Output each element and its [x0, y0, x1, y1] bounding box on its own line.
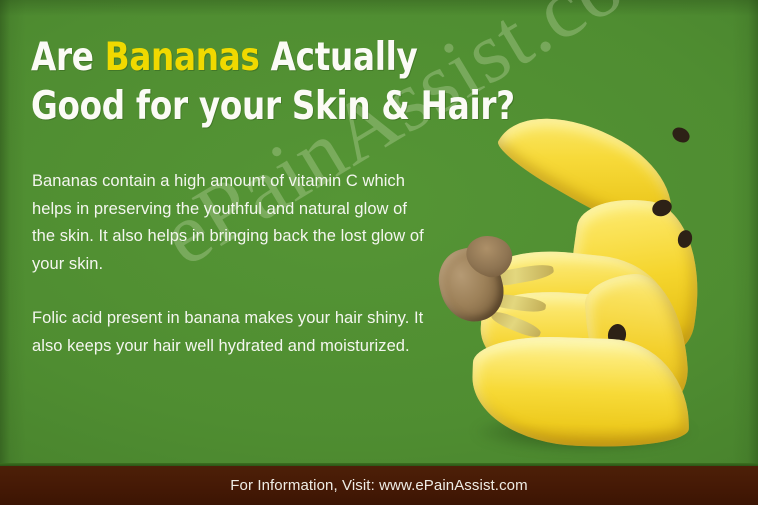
body-paragraph-1: Bananas contain a high amount of vitamin… [32, 168, 432, 278]
body-paragraph-2: Folic acid present in banana makes your … [32, 305, 432, 360]
page-title-accent: Bananas [105, 35, 260, 80]
body-copy: Bananas contain a high amount of vitamin… [32, 168, 432, 360]
page-title-line-1-before: Are [31, 35, 105, 80]
footer-text: For Information, Visit: www.ePainAssist.… [0, 477, 758, 494]
page-title-line-1: Are Bananas Actually [31, 33, 515, 82]
page-title-line-1-after: Actually [260, 35, 418, 80]
page-title-line-2: Good for your Skin & Hair? [31, 82, 515, 131]
page-title: Are Bananas Actually Good for your Skin … [31, 33, 515, 131]
infographic-canvas: ePainAssist.com Are Bananas Actually Goo… [0, 0, 758, 505]
banana-back-tip [670, 124, 693, 145]
banana-bunch-image [438, 126, 750, 466]
